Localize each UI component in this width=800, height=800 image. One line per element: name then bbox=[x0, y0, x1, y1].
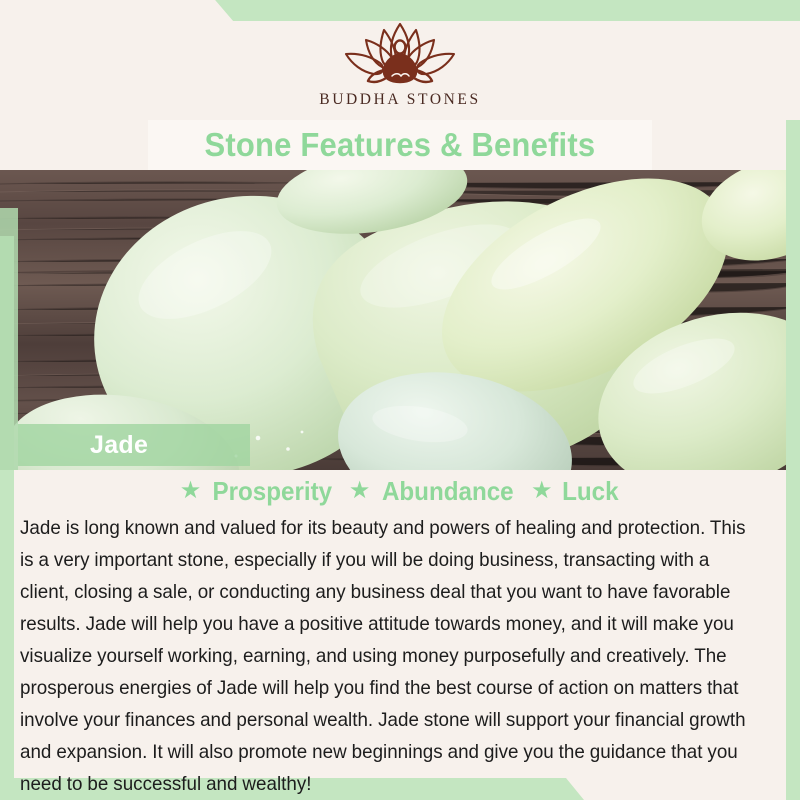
benefit-item-prosperity: ★ Prosperity bbox=[180, 476, 337, 507]
page-title-text: Stone Features & Benefits bbox=[205, 126, 596, 164]
frame-left-photo-accent bbox=[0, 208, 18, 470]
star-icon: ★ bbox=[180, 479, 202, 503]
benefit-label: Luck bbox=[562, 476, 618, 507]
lotus-meditation-icon bbox=[326, 20, 474, 86]
benefits-row: ★ Prosperity ★ Abundance ★ Luck bbox=[14, 470, 786, 512]
brand-name: BUDDHA STONES bbox=[319, 91, 480, 109]
stone-name-label: Jade bbox=[90, 431, 148, 460]
benefit-item-luck: ★ Luck bbox=[531, 476, 620, 507]
stone-info-card: BUDDHA STONES Stone Features & Benefits … bbox=[0, 0, 800, 800]
stone-description: Jade is long known and valued for its be… bbox=[14, 508, 786, 778]
benefit-label: Prosperity bbox=[213, 476, 333, 507]
stone-name-banner: Jade bbox=[18, 424, 250, 466]
benefit-label: Abundance bbox=[382, 476, 514, 507]
benefit-item-abundance: ★ Abundance bbox=[349, 476, 519, 507]
stone-description-text: Jade is long known and valued for its be… bbox=[20, 512, 755, 800]
star-icon: ★ bbox=[349, 479, 371, 503]
brand-logo: BUDDHA STONES bbox=[0, 20, 800, 109]
frame-right-accent bbox=[786, 0, 800, 800]
star-icon: ★ bbox=[531, 479, 553, 503]
page-title: Stone Features & Benefits bbox=[148, 120, 652, 170]
